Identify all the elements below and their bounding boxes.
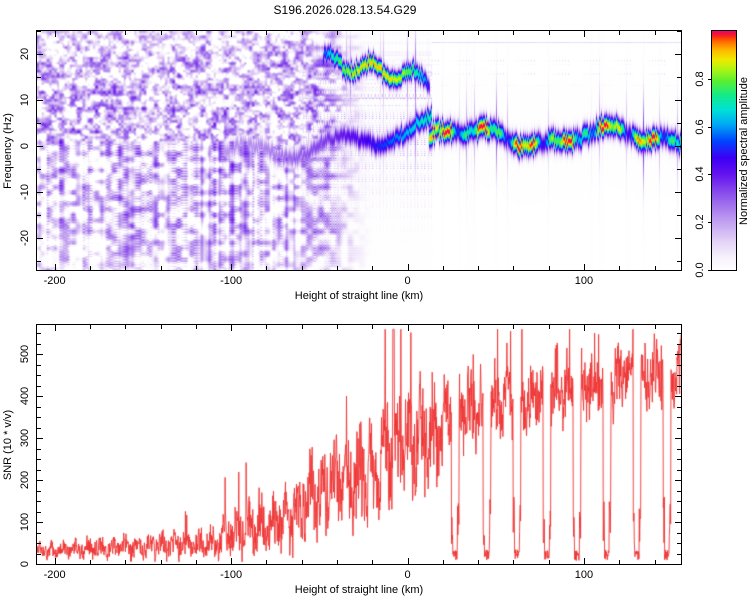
axis-tick	[125, 560, 126, 564]
axis-tick	[37, 554, 41, 555]
axis-tick	[619, 560, 620, 564]
axis-tick	[478, 325, 479, 329]
axis-tick	[37, 344, 41, 345]
axis-tick	[161, 325, 162, 329]
axis-tick	[478, 31, 479, 35]
axis-tick	[675, 396, 681, 397]
axis-tick	[619, 325, 620, 329]
axis-tick	[675, 354, 681, 355]
axis-tick	[677, 428, 681, 429]
axis-tick	[675, 438, 681, 439]
axis-tick	[302, 325, 303, 329]
axis-tick	[372, 560, 373, 564]
axis-tick	[37, 470, 41, 471]
snr-x-axis-title: Height of straight line (km)	[295, 584, 423, 596]
axis-tick	[677, 501, 681, 502]
axis-tick	[675, 480, 681, 481]
axis-tick	[37, 192, 43, 193]
axis-tick	[231, 558, 232, 564]
axis-tick	[37, 123, 41, 124]
axis-tick	[443, 266, 444, 270]
axis-tick	[677, 543, 681, 544]
axis-tick	[708, 127, 712, 128]
x-tick-label: 100	[575, 275, 593, 287]
axis-tick	[549, 560, 550, 564]
y-tick-label: 300	[19, 429, 31, 447]
axis-tick	[161, 266, 162, 270]
spectrogram-y-axis-title: Frequency (Hz)	[2, 113, 14, 189]
axis-tick	[37, 522, 43, 523]
y-tick-label: -10	[19, 184, 31, 200]
axis-tick	[584, 264, 585, 270]
axis-tick	[37, 261, 41, 262]
axis-tick	[37, 501, 41, 502]
axis-tick	[372, 31, 373, 35]
x-tick-label: -100	[220, 275, 242, 287]
axis-tick	[677, 31, 681, 32]
x-tick-label: 0	[404, 569, 410, 581]
axis-tick	[337, 325, 338, 329]
axis-tick	[443, 560, 444, 564]
axis-tick	[196, 266, 197, 270]
axis-tick	[37, 438, 43, 439]
axis-tick	[90, 325, 91, 329]
snr-y-axis-title: SNR (10 * v/v)	[2, 409, 14, 479]
axis-tick	[675, 100, 681, 101]
axis-tick	[37, 449, 41, 450]
axis-tick	[302, 31, 303, 35]
axis-tick	[37, 146, 43, 147]
axis-tick	[37, 428, 41, 429]
axis-tick	[655, 325, 656, 329]
axis-tick	[677, 123, 681, 124]
colorbar-tick-label: 0.2	[694, 215, 706, 230]
axis-tick	[125, 325, 126, 329]
axis-tick	[266, 325, 267, 329]
axis-tick	[408, 325, 409, 331]
axis-tick	[337, 266, 338, 270]
y-tick-label: -20	[19, 230, 31, 246]
axis-tick	[90, 266, 91, 270]
axis-tick	[677, 512, 681, 513]
colorbar-tick-label: 0.4	[694, 167, 706, 182]
axis-tick	[55, 31, 56, 37]
axis-tick	[677, 375, 681, 376]
axis-tick	[37, 215, 41, 216]
axis-tick	[708, 174, 712, 175]
axis-tick	[675, 192, 681, 193]
axis-tick	[655, 266, 656, 270]
axis-tick	[266, 31, 267, 35]
axis-tick	[677, 554, 681, 555]
axis-tick	[37, 396, 43, 397]
axis-tick	[372, 325, 373, 329]
axis-tick	[37, 333, 41, 334]
axis-tick	[675, 564, 681, 565]
snr-canvas	[37, 325, 681, 564]
axis-tick	[37, 417, 41, 418]
spectrogram-canvas	[37, 31, 681, 270]
axis-tick	[37, 543, 41, 544]
axis-tick	[619, 266, 620, 270]
axis-tick	[37, 365, 41, 366]
axis-tick	[677, 333, 681, 334]
axis-tick	[302, 266, 303, 270]
axis-tick	[549, 266, 550, 270]
axis-tick	[513, 560, 514, 564]
axis-tick	[677, 365, 681, 366]
axis-tick	[37, 375, 41, 376]
axis-tick	[231, 325, 232, 331]
axis-tick	[675, 522, 681, 523]
x-tick-label: -100	[220, 569, 242, 581]
axis-tick	[677, 169, 681, 170]
colorbar-axis-title: Normalized spectral amplitude	[738, 77, 750, 225]
y-tick-label: 0	[19, 561, 31, 567]
axis-tick	[408, 558, 409, 564]
axis-tick	[125, 31, 126, 35]
axis-tick	[55, 264, 56, 270]
axis-tick	[55, 558, 56, 564]
axis-tick	[655, 560, 656, 564]
y-tick-label: 200	[19, 471, 31, 489]
axis-tick	[37, 169, 41, 170]
axis-tick	[408, 31, 409, 37]
axis-tick	[708, 270, 712, 271]
y-tick-label: 0	[19, 143, 31, 149]
axis-tick	[443, 31, 444, 35]
axis-tick	[677, 344, 681, 345]
axis-tick	[231, 264, 232, 270]
axis-tick	[37, 31, 41, 32]
axis-tick	[231, 31, 232, 37]
colorbar-tick-label: 0.6	[694, 119, 706, 134]
axis-tick	[37, 238, 43, 239]
axis-tick	[37, 512, 41, 513]
axis-tick	[677, 77, 681, 78]
axis-tick	[37, 491, 41, 492]
y-tick-label: 10	[19, 94, 31, 106]
axis-tick	[37, 480, 43, 481]
x-tick-label: -200	[44, 569, 66, 581]
axis-tick	[675, 238, 681, 239]
colorbar-tick-label: 0.0	[694, 262, 706, 277]
axis-tick	[677, 491, 681, 492]
axis-tick	[372, 266, 373, 270]
x-tick-label: 0	[404, 275, 410, 287]
axis-tick	[302, 560, 303, 564]
axis-tick	[677, 261, 681, 262]
axis-tick	[37, 386, 41, 387]
axis-tick	[677, 459, 681, 460]
axis-tick	[584, 558, 585, 564]
axis-tick	[55, 325, 56, 331]
colorbar-tick-label: 0.8	[694, 71, 706, 86]
axis-tick	[675, 54, 681, 55]
axis-tick	[266, 266, 267, 270]
axis-tick	[478, 266, 479, 270]
axis-tick	[675, 146, 681, 147]
axis-tick	[513, 266, 514, 270]
axis-tick	[677, 386, 681, 387]
axis-tick	[408, 264, 409, 270]
y-tick-label: 500	[19, 345, 31, 363]
axis-tick	[125, 266, 126, 270]
axis-tick	[708, 79, 712, 80]
axis-tick	[161, 31, 162, 35]
figure-root: S196.2026.028.13.54.G29 -200-1000100 -20…	[0, 0, 750, 600]
axis-tick	[549, 325, 550, 329]
axis-tick	[196, 560, 197, 564]
axis-tick	[677, 417, 681, 418]
axis-tick	[196, 325, 197, 329]
axis-tick	[266, 560, 267, 564]
axis-tick	[337, 31, 338, 35]
axis-tick	[619, 31, 620, 35]
axis-tick	[655, 31, 656, 35]
axis-tick	[677, 407, 681, 408]
axis-tick	[37, 100, 43, 101]
axis-tick	[37, 407, 41, 408]
colorbar-gradient	[712, 31, 736, 270]
axis-tick	[677, 533, 681, 534]
axis-tick	[37, 77, 41, 78]
figure-title: S196.2026.028.13.54.G29	[0, 3, 690, 17]
axis-tick	[677, 470, 681, 471]
axis-tick	[443, 325, 444, 329]
x-tick-label: -200	[44, 275, 66, 287]
axis-tick	[37, 459, 41, 460]
axis-tick	[37, 564, 43, 565]
axis-tick	[708, 222, 712, 223]
y-tick-label: 20	[19, 48, 31, 60]
axis-tick	[37, 354, 43, 355]
y-tick-label: 100	[19, 513, 31, 531]
axis-tick	[90, 31, 91, 35]
axis-tick	[478, 560, 479, 564]
axis-tick	[337, 560, 338, 564]
axis-tick	[196, 31, 197, 35]
spectrogram-x-axis-title: Height of straight line (km)	[295, 290, 423, 302]
axis-tick	[513, 325, 514, 329]
axis-tick	[37, 533, 41, 534]
axis-tick	[161, 560, 162, 564]
x-tick-label: 100	[575, 569, 593, 581]
y-tick-label: 400	[19, 387, 31, 405]
axis-tick	[584, 325, 585, 331]
axis-tick	[513, 31, 514, 35]
axis-tick	[584, 31, 585, 37]
axis-tick	[677, 215, 681, 216]
axis-tick	[549, 31, 550, 35]
axis-tick	[677, 449, 681, 450]
axis-tick	[37, 54, 43, 55]
axis-tick	[90, 560, 91, 564]
